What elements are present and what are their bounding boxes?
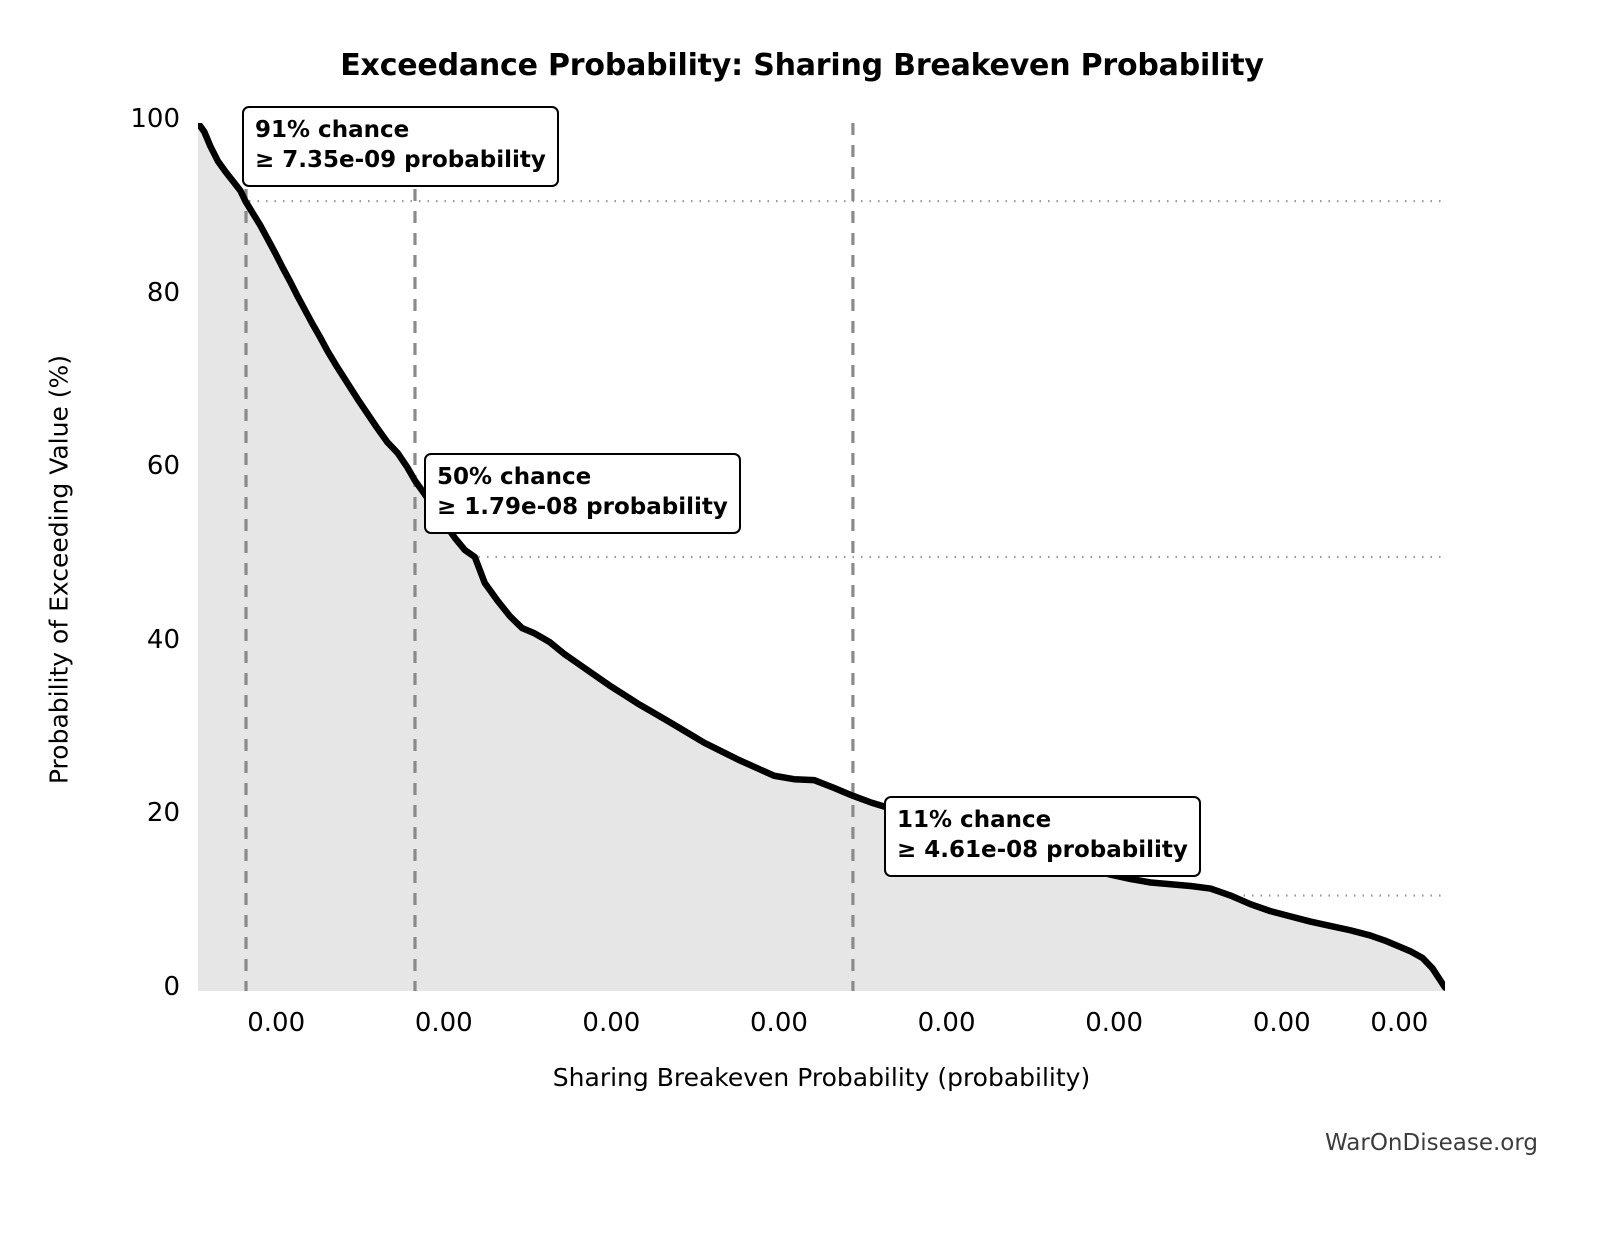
y-tick-label: 20 bbox=[60, 800, 180, 826]
exceedance-probability-figure: Exceedance Probability: Sharing Breakeve… bbox=[0, 0, 1604, 1234]
x-tick-label: 0.00 bbox=[1329, 1008, 1469, 1038]
annotation-50-line1: 50% chance bbox=[437, 464, 591, 490]
x-tick-label: 0.00 bbox=[206, 1008, 346, 1038]
y-tick-label: 60 bbox=[60, 453, 180, 479]
annotation-91-line2: ≥ 7.35e-09 probability bbox=[255, 145, 546, 175]
annotation-50-line2: ≥ 1.79e-08 probability bbox=[437, 492, 728, 522]
x-tick-label: 0.00 bbox=[877, 1008, 1017, 1038]
annotation-91-chance: 91% chance ≥ 7.35e-09 probability bbox=[242, 106, 559, 187]
y-tick-label: 40 bbox=[60, 627, 180, 653]
plot-area bbox=[198, 123, 1445, 991]
exceedance-curve-svg bbox=[198, 123, 1445, 991]
annotation-11-line1: 11% chance bbox=[897, 807, 1051, 833]
y-tick-label: 0 bbox=[60, 974, 180, 1000]
x-tick-label: 0.00 bbox=[1044, 1008, 1184, 1038]
annotation-11-line2: ≥ 4.61e-08 probability bbox=[897, 835, 1188, 865]
x-tick-label: 0.00 bbox=[374, 1008, 514, 1038]
page-title: Exceedance Probability: Sharing Breakeve… bbox=[0, 48, 1604, 83]
attribution-label: WarOnDisease.org bbox=[1325, 1130, 1538, 1156]
x-axis-label: Sharing Breakeven Probability (probabili… bbox=[198, 1063, 1445, 1092]
x-tick-label: 0.00 bbox=[541, 1008, 681, 1038]
annotation-50-chance: 50% chance ≥ 1.79e-08 probability bbox=[424, 453, 741, 534]
x-tick-label: 0.00 bbox=[709, 1008, 849, 1038]
y-axis-label: Probability of Exceeding Value (%) bbox=[45, 290, 74, 850]
y-tick-label: 80 bbox=[60, 280, 180, 306]
area-fill bbox=[198, 123, 1445, 991]
annotation-11-chance: 11% chance ≥ 4.61e-08 probability bbox=[884, 796, 1201, 877]
annotation-91-line1: 91% chance bbox=[255, 117, 409, 143]
y-tick-label: 100 bbox=[60, 106, 180, 132]
